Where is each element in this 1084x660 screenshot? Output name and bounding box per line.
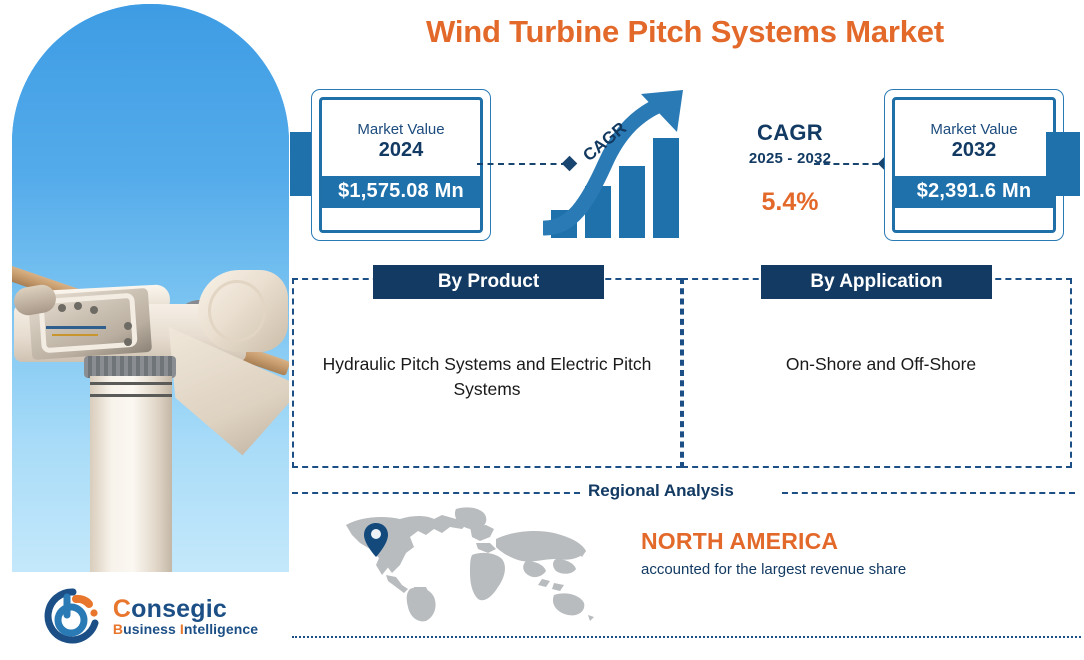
logo-tagline: Business Intelligence bbox=[113, 622, 258, 637]
market-value-2024-footer bbox=[322, 208, 480, 230]
gear-bolt-icon bbox=[124, 338, 132, 346]
logo-tagline-b: B bbox=[113, 621, 123, 637]
market-value-2032-card: Market Value 2032 $2,391.6 Mn bbox=[884, 89, 1064, 241]
world-map-icon bbox=[330, 503, 600, 623]
tower-band bbox=[90, 382, 172, 385]
wind-turbine-photo-panel: Consegic Business Intelligence bbox=[12, 4, 289, 660]
logo-tagline-intelligence: ntelligence bbox=[184, 621, 258, 637]
gear-bolt-icon bbox=[90, 306, 98, 314]
regional-text-block: NORTH AMERICA accounted for the largest … bbox=[641, 528, 1001, 580]
market-value-2032-footer bbox=[895, 208, 1053, 230]
bottom-divider bbox=[292, 636, 1081, 638]
by-product-header: By Product bbox=[373, 265, 604, 299]
cable bbox=[52, 334, 98, 336]
market-value-2024-year: 2024 bbox=[379, 139, 424, 162]
market-value-2032-label: Market Value bbox=[930, 121, 1017, 138]
cagr-bar-4 bbox=[653, 138, 679, 238]
turbine-hub-ring bbox=[208, 280, 266, 342]
wind-turbine-image bbox=[12, 4, 289, 572]
by-application-header: By Application bbox=[761, 265, 992, 299]
cagr-growth-chart-icon: CAGR bbox=[543, 88, 693, 238]
market-value-2032-amount: $2,391.6 Mn bbox=[895, 176, 1053, 208]
cagr-info-block: CAGR 2025 - 2032 5.4% bbox=[700, 120, 880, 217]
cable bbox=[46, 326, 106, 329]
logo-tagline-business: usiness bbox=[123, 621, 180, 637]
logo-initial: C bbox=[113, 595, 131, 623]
regional-divider-left bbox=[292, 492, 580, 494]
regional-analysis-title: Regional Analysis bbox=[588, 481, 734, 501]
page-title: Wind Turbine Pitch Systems Market bbox=[300, 14, 1070, 50]
logo-wordmark: Consegic bbox=[113, 596, 258, 622]
market-value-2032-year: 2032 bbox=[952, 139, 997, 162]
market-value-2024-label: Market Value bbox=[357, 121, 444, 138]
logo-name: onsegic bbox=[131, 595, 227, 623]
cagr-bar-3 bbox=[619, 166, 645, 238]
regional-divider-right bbox=[782, 492, 1075, 494]
market-value-2024-amount: $1,575.08 Mn bbox=[322, 176, 480, 208]
consegic-logo-icon bbox=[43, 587, 103, 645]
right-card-connector-tab bbox=[1046, 132, 1080, 196]
regional-description: accounted for the largest revenue share bbox=[641, 560, 921, 580]
market-value-2024-card: Market Value 2024 $1,575.08 Mn bbox=[311, 89, 491, 241]
regional-region-name: NORTH AMERICA bbox=[641, 528, 1001, 555]
by-product-content: Hydraulic Pitch Systems and Electric Pit… bbox=[322, 352, 652, 403]
tower-band bbox=[90, 394, 172, 397]
by-application-content: On-Shore and Off-Shore bbox=[716, 352, 1046, 377]
turbine-yaw-ring bbox=[84, 356, 176, 378]
gear-bolt-icon bbox=[124, 322, 132, 330]
company-logo: Consegic Business Intelligence bbox=[12, 572, 289, 660]
gear-bolt-icon bbox=[58, 304, 66, 312]
gear-bolt-icon bbox=[74, 302, 82, 310]
cagr-percent-value: 5.4% bbox=[700, 188, 880, 217]
cagr-title: CAGR bbox=[700, 120, 880, 146]
turbine-tower bbox=[90, 376, 172, 572]
